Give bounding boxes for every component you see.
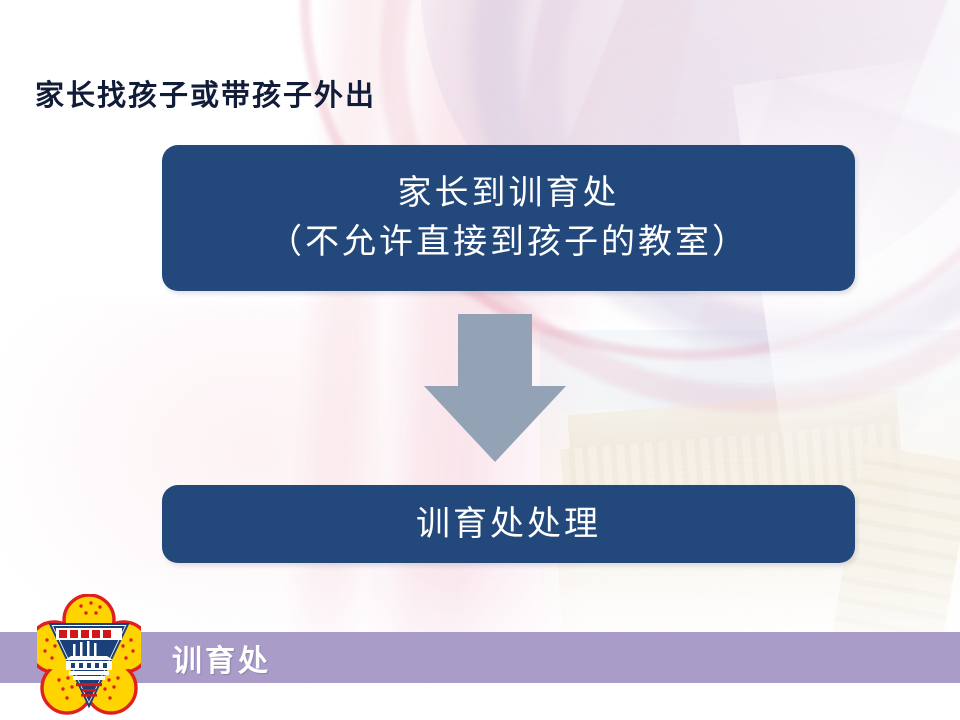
watermark-roof <box>567 389 899 449</box>
flow-step-1-line-2: （不允许直接到孩子的教室） <box>268 220 749 265</box>
school-logo <box>37 594 141 718</box>
flow-step-2-box[interactable]: 训育处处理 <box>162 485 855 563</box>
footer-bar <box>0 632 960 683</box>
slide-canvas: 家长找孩子或带孩子外出 家长到训育处 （不允许直接到孩子的教室） 训育处处理 训… <box>0 0 960 720</box>
flow-step-1-line-1: 家长到训育处 <box>398 171 620 216</box>
arrow-down-icon <box>424 314 566 462</box>
logo-school-name-cn <box>59 630 111 638</box>
watermark-sky <box>548 340 948 410</box>
flow-step-2-line-1: 训育处处理 <box>416 502 601 547</box>
flow-step-1-box[interactable]: 家长到训育处 （不允许直接到孩子的教室） <box>162 145 855 291</box>
footer-department-label: 训育处 <box>172 636 271 680</box>
page-title: 家长找孩子或带孩子外出 <box>35 72 376 114</box>
